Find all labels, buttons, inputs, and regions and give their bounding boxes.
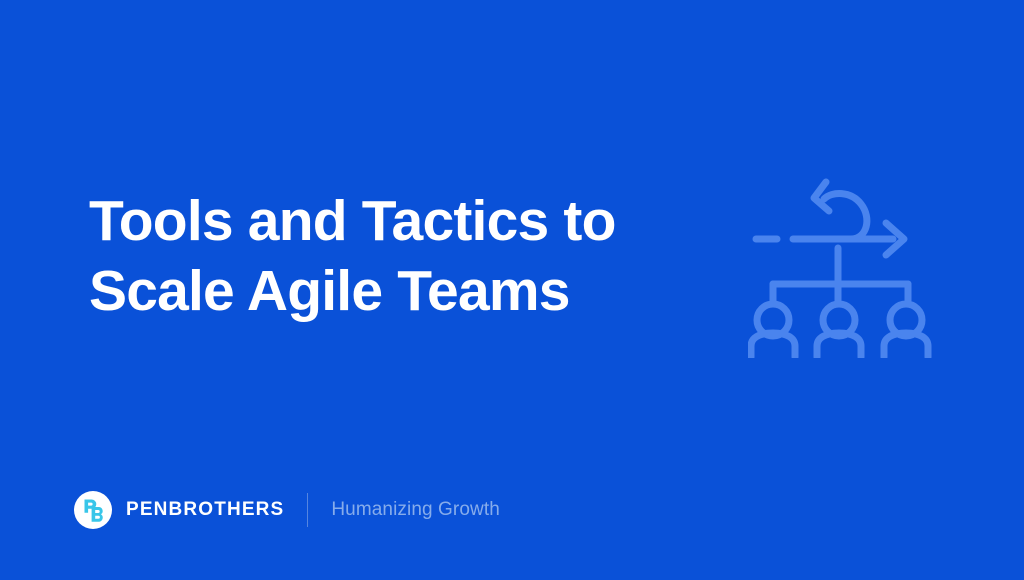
agile-loop-arrow <box>756 182 904 255</box>
person-figure-right <box>884 304 928 357</box>
page-title-line-1: Tools and Tactics to <box>89 186 689 256</box>
penbrothers-wordmark: PENBROTHERS <box>126 499 284 521</box>
brand-lockup: PENBROTHERS Humanizing Growth <box>74 490 500 530</box>
brand-tagline: Humanizing Growth <box>331 499 500 521</box>
page-title: Tools and Tactics to Scale Agile Teams <box>89 186 689 326</box>
person-figure-left <box>751 304 795 357</box>
person-figure-center <box>817 304 861 357</box>
slide-canvas: Tools and Tactics to Scale Agile Teams <box>0 0 1024 580</box>
penbrothers-logo-icon <box>74 491 112 529</box>
agile-team-scaling-icon <box>748 168 934 358</box>
page-title-line-2: Scale Agile Teams <box>89 256 689 326</box>
brand-divider <box>307 493 308 527</box>
